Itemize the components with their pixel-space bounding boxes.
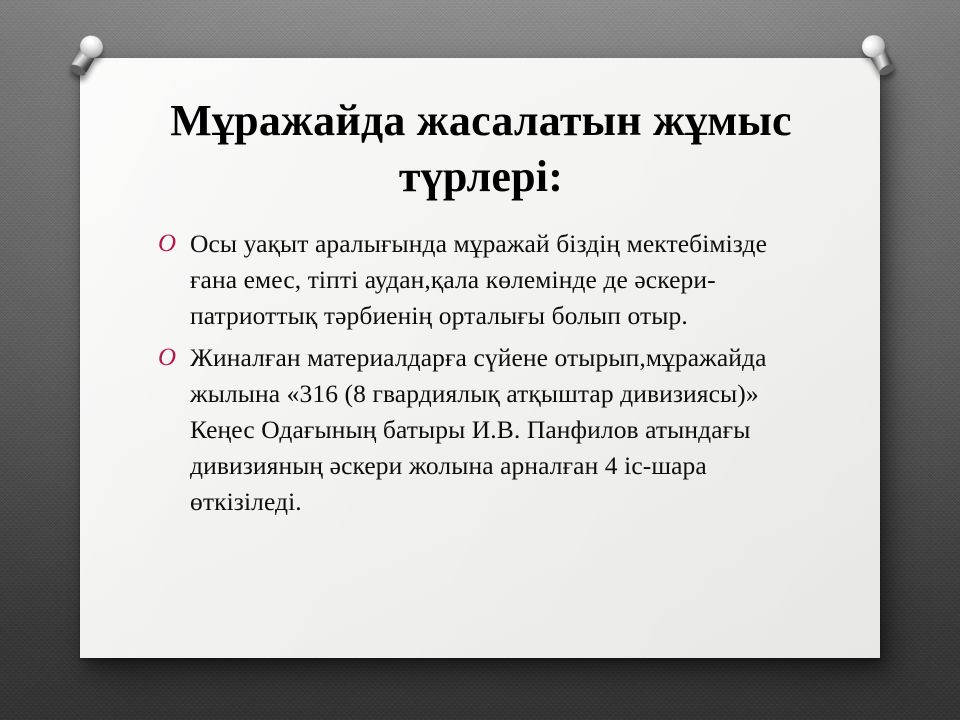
bullet-text: Жиналған материалдарға сүйене отырып,мұр… [190,340,816,520]
list-item: O Осы уақыт аралығында мұражай біздің ме… [156,226,816,334]
paper-sheet: Мұражайда жасалатын жұмыс түрлері: O Осы… [80,58,880,658]
bullet-text: Осы уақыт аралығында мұражай біздің мект… [190,226,816,334]
bullet-marker-icon: O [156,226,190,262]
bullet-marker-icon: O [156,340,190,376]
slide-canvas: Мұражайда жасалатын жұмыс түрлері: O Осы… [0,0,960,720]
slide-title: Мұражайда жасалатын жұмыс түрлері: [146,93,816,206]
bullet-list: O Осы уақыт аралығында мұражай біздің ме… [156,226,816,526]
list-item: O Жиналған материалдарға сүйене отырып,м… [156,340,816,520]
